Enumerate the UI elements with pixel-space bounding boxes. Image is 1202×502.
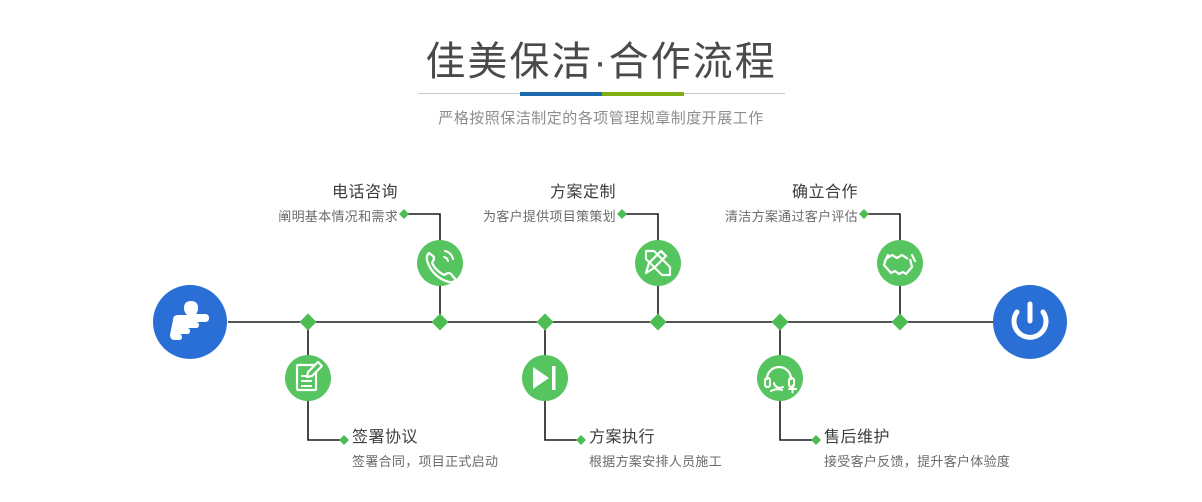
step-label-6: 售后维护 接受客户反馈，提升客户体验度: [824, 430, 1010, 468]
step-desc: 接受客户反馈，提升客户体验度: [824, 455, 1010, 468]
label-diamond: [399, 209, 409, 219]
step-title: 电话咨询: [278, 185, 398, 201]
step-label-1: 电话咨询 阐明基本情况和需求: [278, 185, 398, 223]
axis-diamond: [892, 314, 909, 331]
step-label-5: 确立合作 清洁方案通过客户评估: [725, 185, 858, 223]
divider-segment-blue: [520, 92, 602, 96]
step-title: 售后维护: [824, 430, 1010, 446]
step-node-3[interactable]: [635, 240, 681, 286]
page-subtitle: 严格按照保洁制定的各项管理规章制度开展工作: [0, 107, 1202, 128]
start-node[interactable]: [153, 285, 227, 359]
label-diamond: [811, 435, 821, 445]
step-title: 签署协议: [352, 430, 498, 446]
step-node-1[interactable]: [417, 240, 463, 286]
label-diamond: [617, 209, 627, 219]
axis-diamond: [537, 314, 554, 331]
step-title: 方案执行: [589, 430, 722, 446]
step-node-6[interactable]: [757, 355, 803, 401]
step-node-2[interactable]: [285, 355, 331, 401]
step-label-3: 方案定制 为客户提供项目策策划: [483, 185, 616, 223]
step-node-circle: [757, 355, 803, 401]
divider-segment-green: [602, 92, 684, 96]
label-diamond: [576, 435, 586, 445]
axis-diamond: [432, 314, 449, 331]
step-desc: 根据方案安排人员施工: [589, 455, 722, 468]
step-node-5[interactable]: [877, 240, 923, 286]
page-title: 佳美保洁·合作流程: [0, 38, 1202, 86]
page-header: 佳美保洁·合作流程 严格按照保洁制定的各项管理规章制度开展工作: [0, 0, 1202, 150]
step-desc: 清洁方案通过客户评估: [725, 210, 858, 223]
axis-diamond: [772, 314, 789, 331]
step-node-4[interactable]: [522, 355, 568, 401]
title-divider: [418, 92, 785, 96]
step-node-circle: [285, 355, 331, 401]
step-desc: 阐明基本情况和需求: [278, 210, 398, 223]
label-diamond-group: [339, 209, 869, 445]
process-flow-diagram: 电话咨询 阐明基本情况和需求 方案定制 为客户提供项目策策划 确立合作 清洁方案…: [0, 150, 1202, 502]
step-desc: 为客户提供项目策策划: [483, 210, 616, 223]
label-diamond: [339, 435, 349, 445]
step-label-2: 签署协议 签署合同，项目正式启动: [352, 430, 498, 468]
label-diamond: [859, 209, 869, 219]
step-label-4: 方案执行 根据方案安排人员施工: [589, 430, 722, 468]
step-title: 确立合作: [725, 185, 858, 201]
axis-diamond: [650, 314, 667, 331]
end-node[interactable]: [993, 285, 1067, 359]
step-desc: 签署合同，项目正式启动: [352, 455, 498, 468]
step-title: 方案定制: [483, 185, 616, 201]
axis-diamond: [300, 314, 317, 331]
